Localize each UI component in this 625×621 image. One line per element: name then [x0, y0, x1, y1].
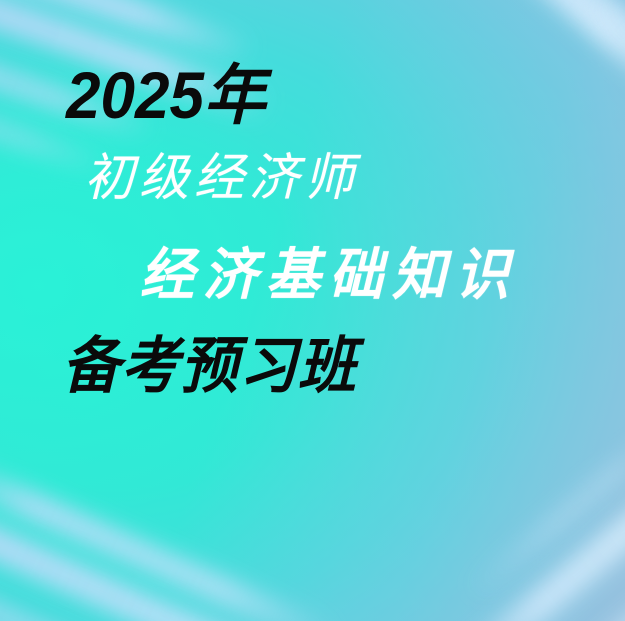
- poster-line-subject: 经济基础知识: [140, 246, 518, 302]
- poster-line-year: 2025年: [66, 64, 266, 130]
- course-promo-poster: 2025年 初级经济师 经济基础知识 备考预习班: [0, 0, 625, 621]
- poster-line-class-type: 备考预习班: [62, 336, 357, 397]
- poster-line-level: 初级经济师: [84, 152, 359, 203]
- poster-text-block: 2025年 初级经济师 经济基础知识 备考预习班: [0, 0, 625, 621]
